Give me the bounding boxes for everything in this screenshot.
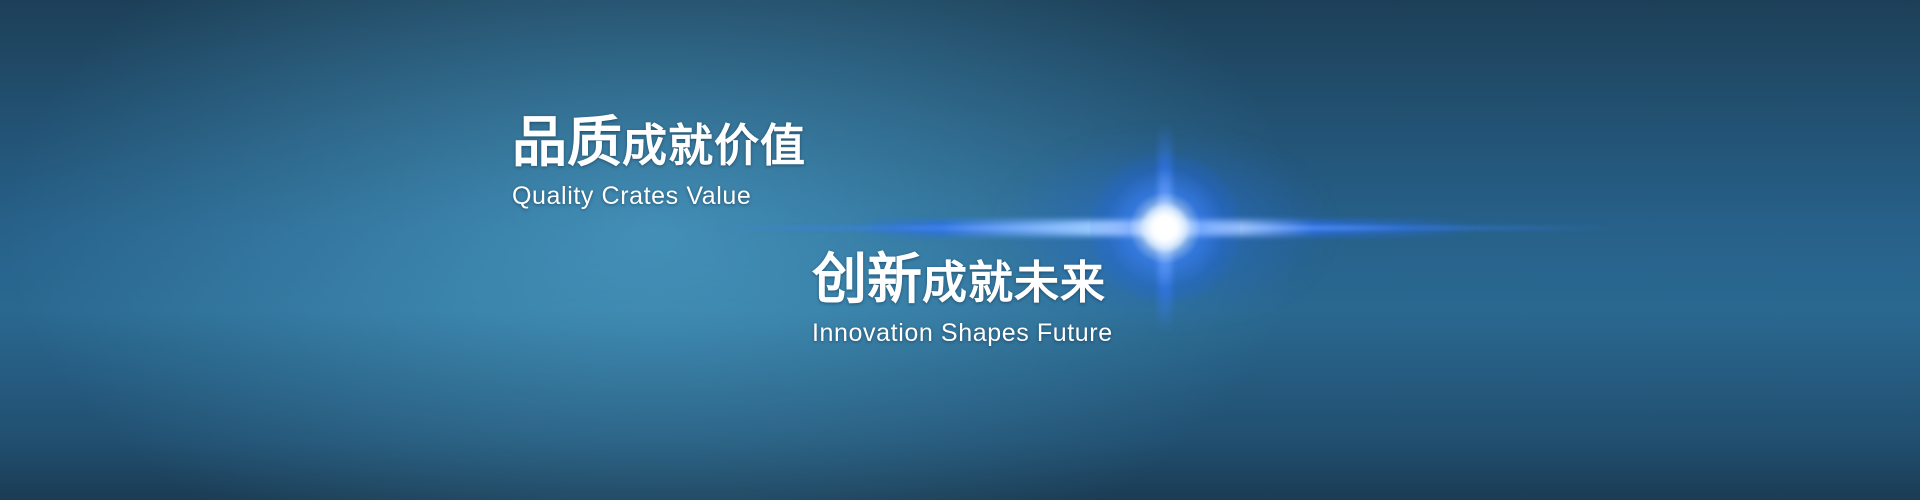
hero-banner: 品质成就价值 Quality Crates Value 创新成就未来 Innov… bbox=[0, 0, 1920, 500]
tech-ring-graphic bbox=[1010, 0, 1610, 500]
low-poly-network-graphic bbox=[0, 0, 760, 500]
headline-quality: 品质成就价值 Quality Crates Value bbox=[512, 115, 806, 209]
headline-quality-zh-tail: 成就价值 bbox=[622, 120, 806, 171]
headline-innovation: 创新成就未来 Innovation Shapes Future bbox=[812, 252, 1113, 346]
headline-innovation-zh: 创新成就未来 bbox=[812, 252, 1113, 307]
headline-innovation-zh-lead: 创新 bbox=[812, 248, 922, 310]
headline-quality-zh: 品质成就价值 bbox=[512, 115, 806, 170]
headline-quality-zh-lead: 品质 bbox=[512, 111, 622, 173]
headline-innovation-zh-tail: 成就未来 bbox=[922, 257, 1106, 308]
headline-quality-en: Quality Crates Value bbox=[512, 184, 806, 209]
headline-innovation-en: Innovation Shapes Future bbox=[812, 321, 1113, 346]
